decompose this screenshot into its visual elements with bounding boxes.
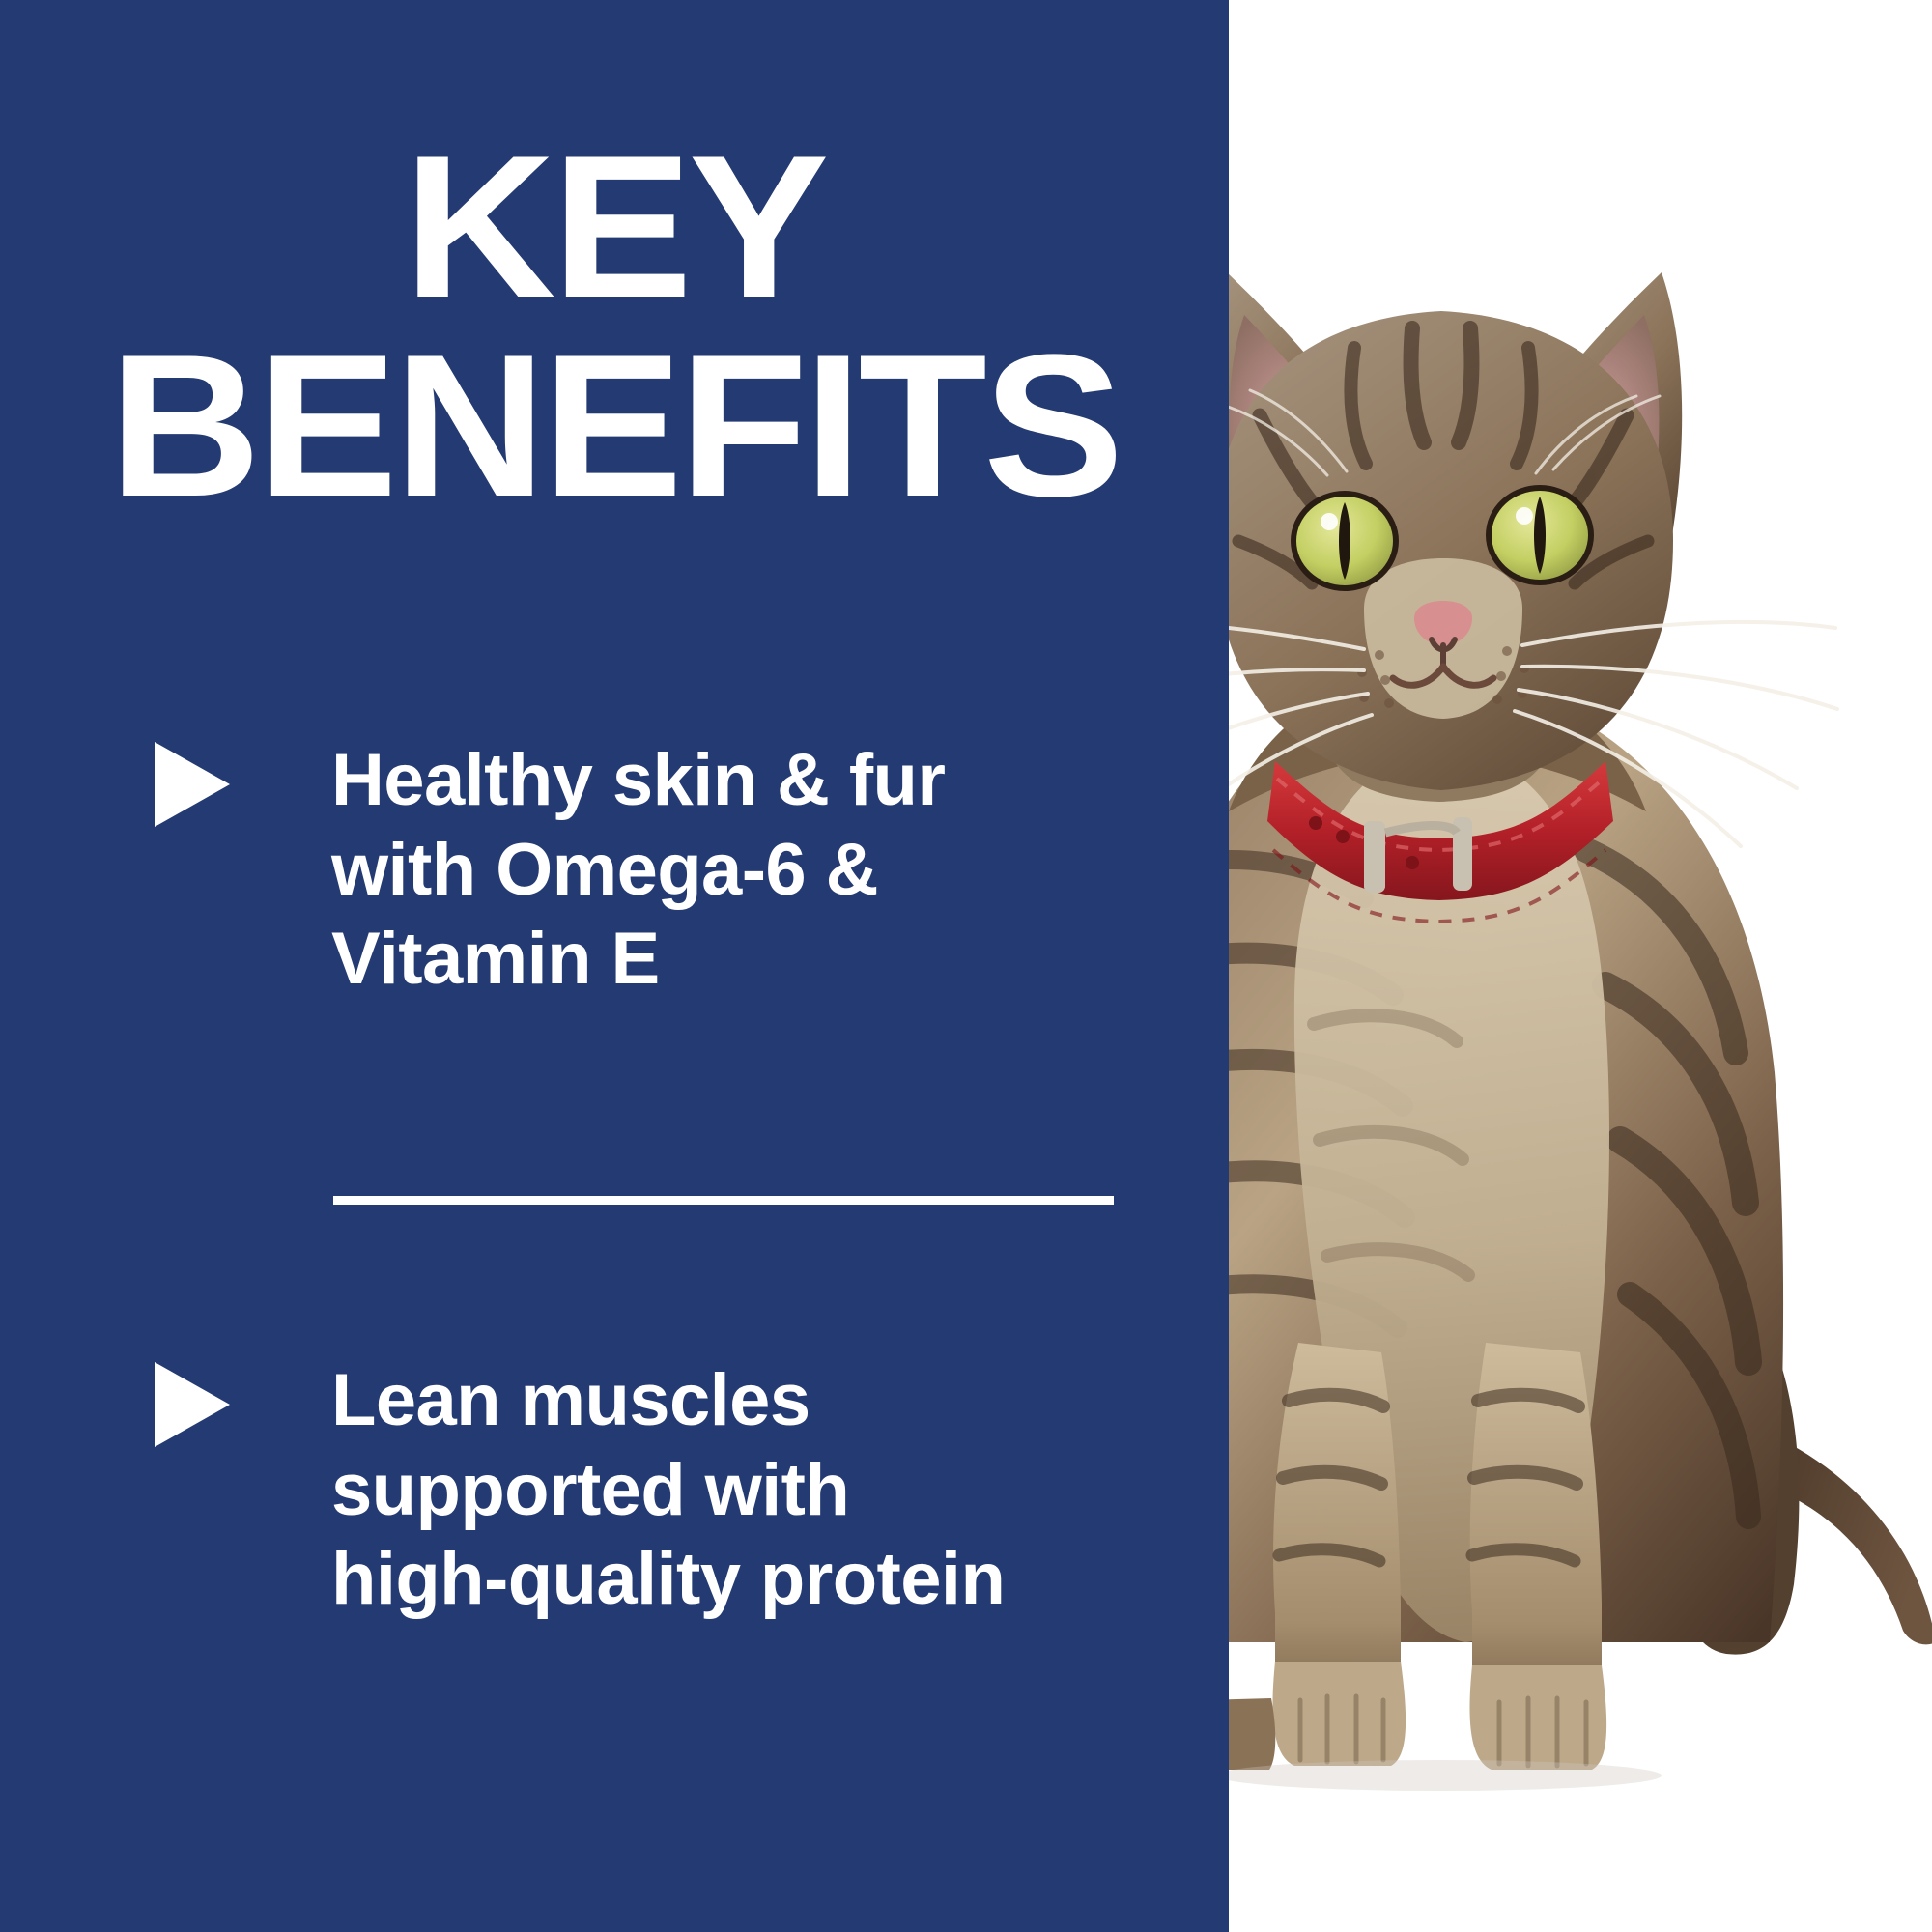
benefit-1-line-3: Vitamin E — [331, 918, 660, 1000]
benefit-item-1-label: Healthy skin & fur with Omega-6 & Vitami… — [331, 736, 1133, 1005]
benefit-2-line-1: Lean muscles — [331, 1359, 810, 1441]
key-benefits-panel: KEY BENEFITS Healthy skin & fur with Ome… — [0, 0, 1932, 1932]
benefit-1-line-2: with Omega-6 & — [331, 829, 878, 911]
benefit-item-2: Lean muscles supported with high-quality… — [155, 1356, 1236, 1625]
product-photo-area — [1229, 0, 1932, 1932]
page-title: KEY BENEFITS — [0, 128, 1253, 526]
benefit-2-line-2: supported with — [331, 1449, 849, 1531]
page-title-line-2: BENEFITS — [0, 327, 1253, 526]
cat-photo — [1229, 0, 1932, 1932]
triangle-right-icon — [155, 742, 230, 827]
benefit-2-line-3: high-quality protein — [331, 1538, 1005, 1620]
triangle-right-icon — [155, 1362, 230, 1447]
benefit-item-1: Healthy skin & fur with Omega-6 & Vitami… — [155, 736, 1236, 1005]
page-title-line-1: KEY — [0, 128, 1253, 327]
benefit-item-2-label: Lean muscles supported with high-quality… — [331, 1356, 1133, 1625]
benefit-1-line-1: Healthy skin & fur — [331, 739, 945, 821]
section-divider — [333, 1196, 1114, 1205]
